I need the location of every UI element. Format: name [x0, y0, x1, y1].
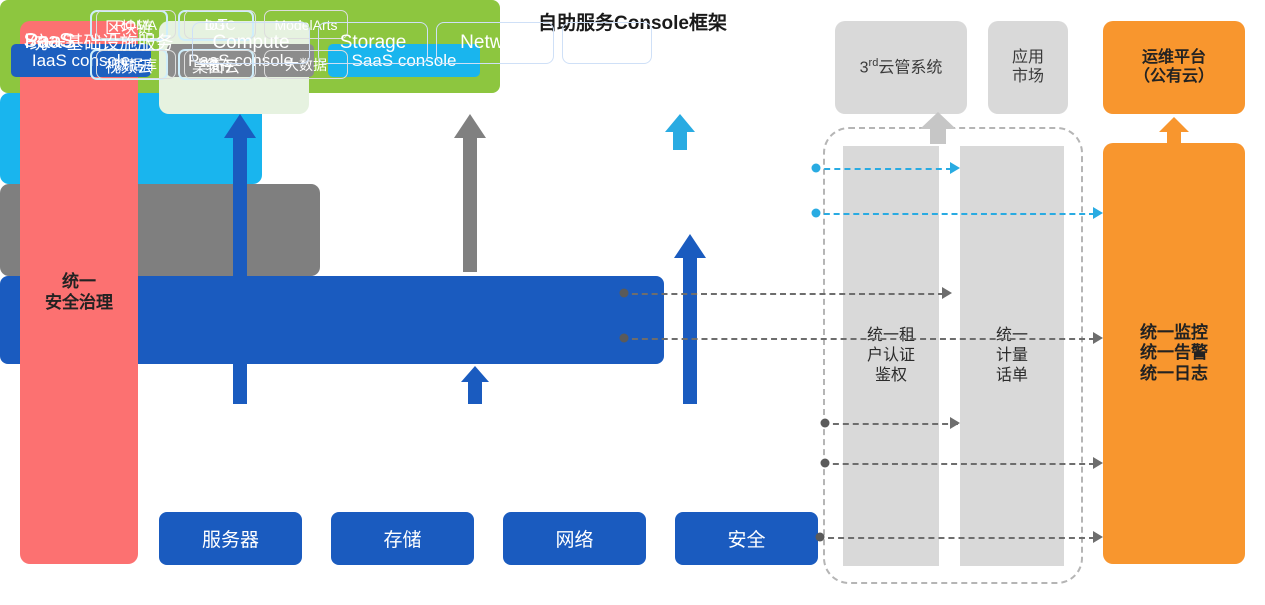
- connector-arrowhead: [950, 417, 960, 429]
- connector-infra-to-auth: [823, 423, 958, 425]
- connector-saas-to-metering: [814, 168, 952, 170]
- connector-arrowhead: [1093, 332, 1103, 344]
- connector-arrowhead: [942, 287, 952, 299]
- architecture-diagram: 统一 安全治理 API网关 自助服务Console框架 IaaS console…: [0, 0, 1265, 605]
- app-market-label: 应用 市场: [1012, 49, 1044, 87]
- infra-chip-storage[interactable]: Storage: [318, 22, 428, 64]
- connector-dot: [821, 419, 830, 428]
- connector-dot: [821, 459, 830, 468]
- connector-paas-to-ops: [622, 338, 1095, 340]
- infra-chip-network[interactable]: Network: [436, 22, 554, 64]
- arrow-infra-to-api-gateway: [222, 114, 258, 404]
- ops-platform-box: 运维平台 （公有云）: [1103, 21, 1245, 114]
- resource-box-storage[interactable]: 存储: [331, 512, 474, 565]
- connector-arrowhead: [1093, 531, 1103, 543]
- connector-arrowhead: [1093, 457, 1103, 469]
- arrow-region-to-third-cloud: [918, 112, 958, 144]
- connector-arrowhead: [1093, 207, 1103, 219]
- connector-infra-to-ops: [823, 463, 1095, 465]
- arrow-infra-to-saas: [672, 234, 708, 404]
- ops-monitoring-column: 统一监控 统一告警 统一日志: [1103, 143, 1245, 564]
- app-market-box: 应用 市场: [988, 21, 1068, 114]
- resource-box-network[interactable]: 网络: [503, 512, 646, 565]
- infra-chip-compute[interactable]: Compute: [192, 22, 310, 64]
- resource-box-server[interactable]: 服务器: [159, 512, 302, 565]
- third-party-cloud-label: 3rd云管系统: [860, 57, 943, 78]
- ops-monitoring-label: 统一监控 统一告警 统一日志: [1140, 323, 1208, 383]
- connector-resources-to-ops: [818, 537, 1095, 539]
- infra-chip-cce[interactable]: CCE: [562, 22, 652, 64]
- security-governance-column: 统一 安全治理: [20, 21, 138, 564]
- connector-dot: [812, 164, 821, 173]
- unified-metering-billing-column: 统一 计量 话单: [960, 146, 1064, 566]
- unified-infrastructure-label: 统一基础设施服务: [14, 29, 189, 55]
- resource-box-security[interactable]: 安全: [675, 512, 818, 565]
- arrow-infra-to-paas: [459, 366, 491, 404]
- unified-tenant-auth-label: 统一租 户认证 鉴权: [867, 326, 915, 386]
- ops-platform-label: 运维平台 （公有云）: [1134, 49, 1214, 87]
- connector-paas-to-auth: [622, 293, 944, 295]
- unified-metering-billing-label: 统一 计量 话单: [996, 326, 1028, 386]
- security-governance-label: 统一 安全治理: [45, 272, 113, 312]
- connector-saas-to-ops: [814, 213, 1095, 215]
- connector-arrowhead: [950, 162, 960, 174]
- connector-dot: [620, 289, 629, 298]
- arrow-ops-column-to-ops-platform: [1157, 117, 1191, 145]
- third-party-cloud-management-box: 3rd云管系统: [835, 21, 967, 114]
- arrow-saas-to-console: [663, 114, 697, 150]
- unified-tenant-auth-column: 统一租 户认证 鉴权: [843, 146, 939, 566]
- connector-dot: [816, 533, 825, 542]
- connector-dot: [812, 209, 821, 218]
- connector-dot: [620, 334, 629, 343]
- arrow-paas-to-console: [452, 114, 488, 272]
